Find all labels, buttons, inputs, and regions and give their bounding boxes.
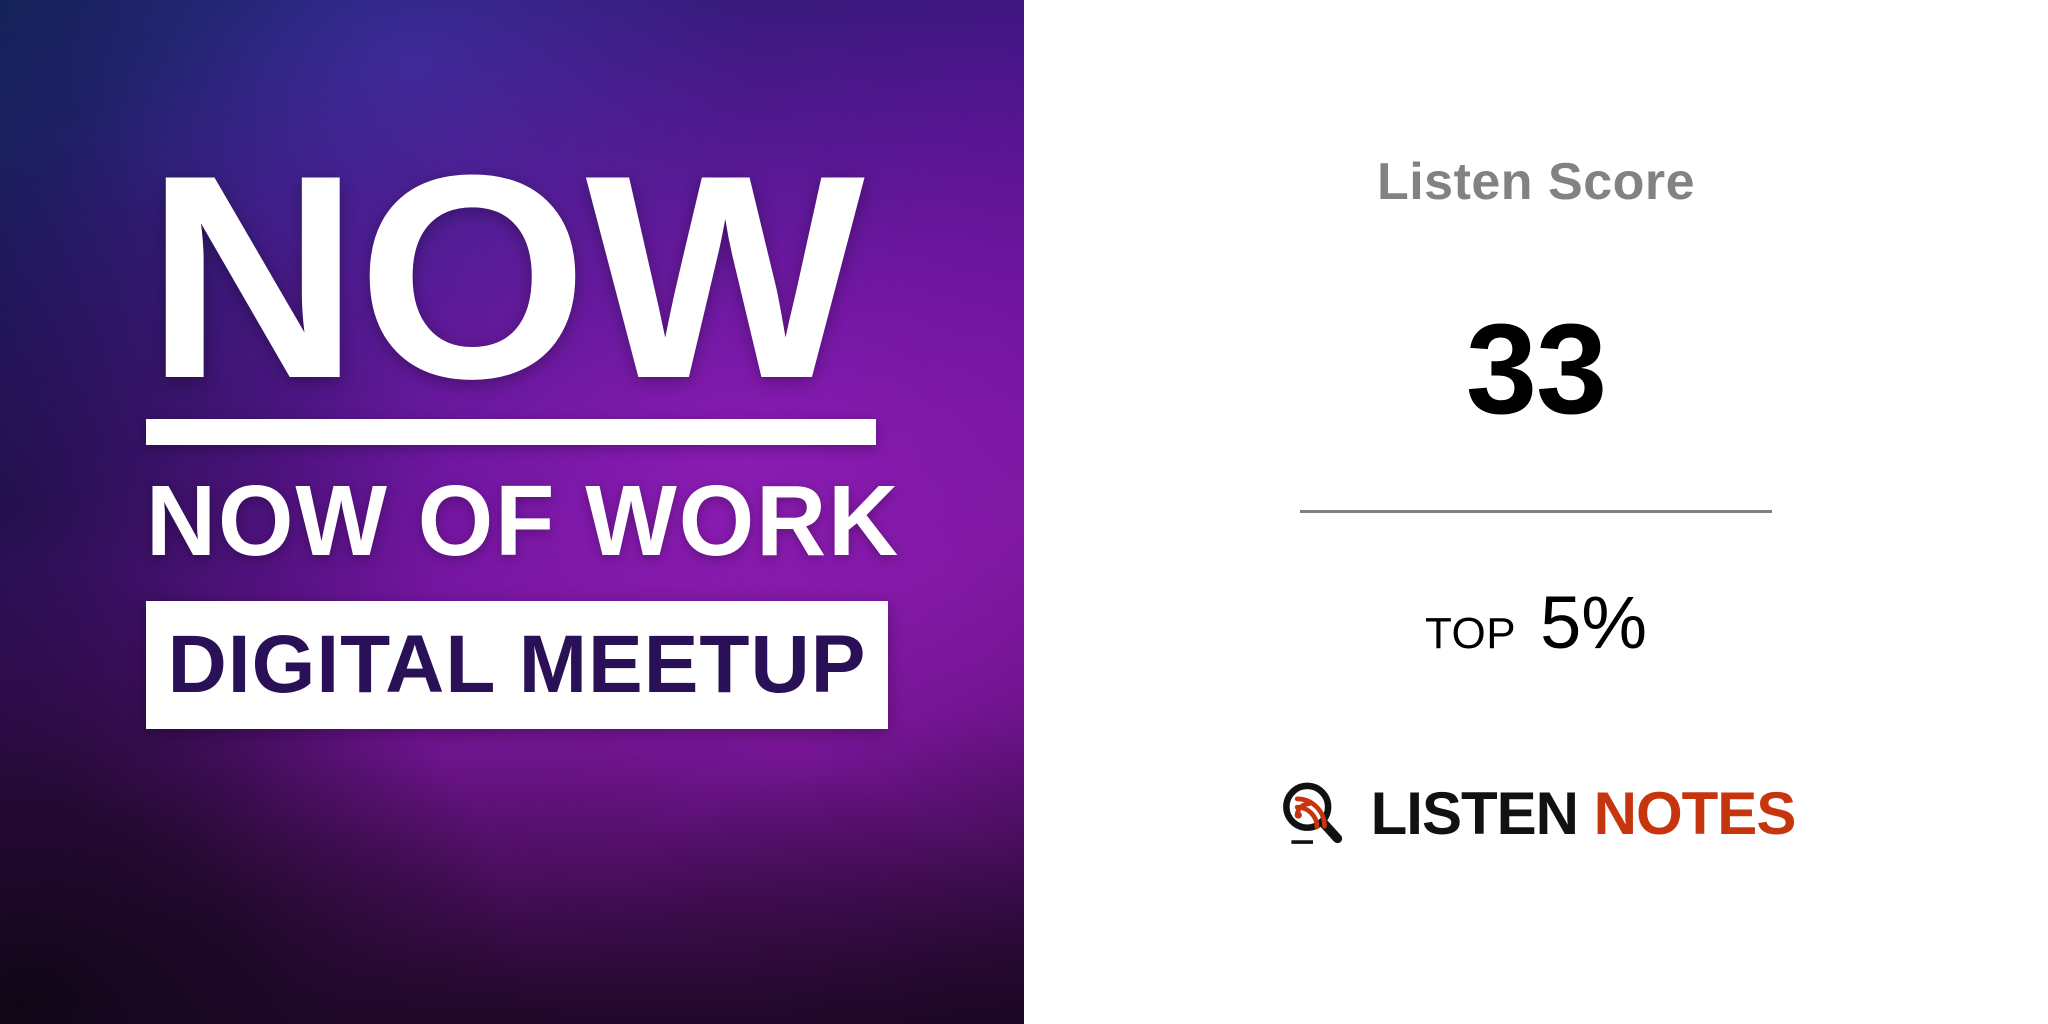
cover-tagline-digital-meetup: DIGITAL MEETUP — [168, 618, 867, 712]
listen-notes-wordmark: LISTEN NOTES — [1371, 784, 1796, 844]
cover-subtitle-now-of-work: NOW OF WORK — [146, 471, 856, 571]
listen-score-value: 33 — [1024, 306, 2048, 434]
listen-notes-logo[interactable]: LISTEN NOTES — [1024, 778, 2048, 850]
rank-prefix-top: TOP — [1425, 609, 1516, 659]
listen-score-card: NOW NOW OF WORK DIGITAL MEETUP Listen Sc… — [0, 0, 2048, 1024]
wordmark-listen: LISTEN — [1371, 780, 1578, 847]
cover-tagline-box: DIGITAL MEETUP — [146, 601, 888, 729]
score-divider — [1300, 510, 1772, 513]
global-rank-row: TOP 5% — [1024, 580, 2048, 665]
wordmark-notes: NOTES — [1578, 780, 1795, 847]
podcast-cover-art[interactable]: NOW NOW OF WORK DIGITAL MEETUP — [0, 0, 1024, 1024]
listen-score-label: Listen Score — [1024, 152, 2048, 212]
listen-score-panel-inner: Listen Score 33 TOP 5% — [1024, 0, 2048, 1024]
rank-percentile-value: 5% — [1540, 580, 1647, 665]
cover-title-now: NOW — [146, 150, 893, 405]
listen-notes-magnifier-rss-icon — [1277, 778, 1349, 850]
listen-score-panel: Listen Score 33 TOP 5% — [1024, 0, 2048, 1024]
cover-artwork-content: NOW NOW OF WORK DIGITAL MEETUP — [146, 150, 878, 729]
